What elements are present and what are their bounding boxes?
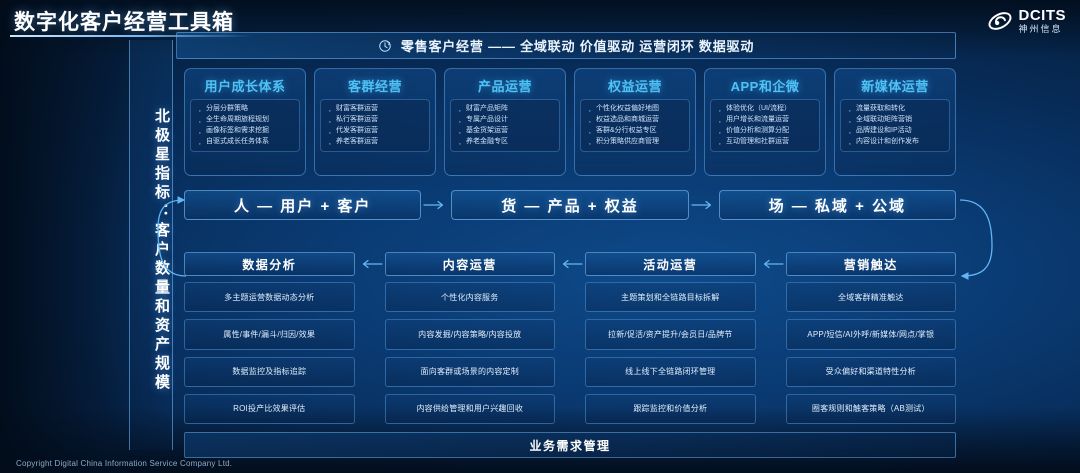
bottom-bar: 业务需求管理: [184, 432, 956, 458]
arrow-left-icon: [357, 258, 383, 270]
capability-card[interactable]: 客群经营财富客群运营私行客群运营代发客群运营养老客群运营: [314, 68, 436, 176]
card-list-item: 品牌建设和IP活动: [845, 126, 946, 137]
card-body: 体验优化（UI/流程）用户增长和流量运营价值分析和测算分配互动管理和社群运营: [710, 99, 820, 152]
section-cell[interactable]: 圈客规则和触客策略（AB测试）: [786, 394, 957, 424]
card-list-item: 全域联动矩阵营销: [845, 115, 946, 126]
headline-banner: 零售客户经营 —— 全域联动 价值驱动 运营闭环 数据驱动: [176, 32, 956, 59]
section-cell[interactable]: 数据监控及指标追踪: [184, 357, 355, 387]
section-cell[interactable]: 跟踪监控和价值分析: [585, 394, 756, 424]
card-list-item: 价值分析和测算分配: [715, 126, 816, 137]
bottom-bar-label: 业务需求管理: [529, 437, 610, 454]
flow-row: 人 — 用户 + 客户货 — 产品 + 权益场 — 私域 + 公域: [184, 190, 956, 220]
slide-canvas: 数字化客户经营工具箱 DCITS 神州信息 北极星指标：客户数量和资产规模 零售…: [0, 0, 1080, 473]
brand-logo: DCITS 神州信息: [987, 8, 1067, 34]
flow-box[interactable]: 货 — 产品 + 权益: [451, 190, 688, 220]
section-cell[interactable]: 个性化内容服务: [385, 282, 556, 312]
card-title: 权益运营: [580, 76, 690, 95]
section-arrow: [555, 258, 585, 270]
section-cell[interactable]: 属性/事件/漏斗/归因/效果: [184, 319, 355, 349]
card-list-item: 分层分群策略: [195, 104, 296, 115]
arrow-left-icon: [557, 258, 583, 270]
card-list-item: 私行客群运营: [325, 115, 426, 126]
north-star-label: 北极星指标：客户数量和资产规模: [133, 108, 169, 393]
section-cell[interactable]: 多主题运营数据动态分析: [184, 282, 355, 312]
flow-box[interactable]: 人 — 用户 + 客户: [184, 190, 421, 220]
section-cell[interactable]: ROI投产比效果评估: [184, 394, 355, 424]
title-underline: [10, 35, 252, 37]
card-list-item: 用户增长和流量运营: [715, 115, 816, 126]
card-title: 用户成长体系: [190, 76, 300, 95]
card-body: 财富客群运营私行客群运营代发客群运营养老客群运营: [320, 99, 430, 152]
section-column: 多主题运营数据动态分析属性/事件/漏斗/归因/效果数据监控及指标追踪ROI投产比…: [184, 282, 355, 424]
card-list-item: 积分策略供应商管理: [585, 137, 686, 148]
flow-box[interactable]: 场 — 私域 + 公域: [719, 190, 956, 220]
arrow-right-icon: [691, 199, 717, 211]
section-header[interactable]: 营销触达: [786, 252, 957, 276]
section-header[interactable]: 活动运营: [585, 252, 756, 276]
page-title: 数字化客户经营工具箱: [14, 6, 234, 36]
section-cell[interactable]: 内容发掘/内容策略/内容投放: [385, 319, 556, 349]
section-header-row: 数据分析内容运营活动运营营销触达: [184, 252, 956, 276]
card-list-item: 专属产品设计: [455, 115, 556, 126]
section-header[interactable]: 内容运营: [385, 252, 556, 276]
dcits-swirl-icon: [987, 8, 1013, 34]
card-list-item: 体验优化（UI/流程）: [715, 104, 816, 115]
card-body: 分层分群策略全生命周期旅程规划画像标签和需求挖掘自驱式成长任务体系: [190, 99, 300, 152]
card-body: 流量获取和转化全域联动矩阵营销品牌建设和IP活动内容设计和创作发布: [840, 99, 950, 152]
card-list-item: 互动管理和社群运营: [715, 137, 816, 148]
card-title: 新媒体运营: [840, 76, 950, 95]
capability-card[interactable]: 用户成长体系分层分群策略全生命周期旅程规划画像标签和需求挖掘自驱式成长任务体系: [184, 68, 306, 176]
capability-card-row: 用户成长体系分层分群策略全生命周期旅程规划画像标签和需求挖掘自驱式成长任务体系客…: [184, 68, 956, 176]
card-list-item: 自驱式成长任务体系: [195, 137, 296, 148]
capability-card[interactable]: 产品运营财富产品矩阵专属产品设计基金货架运营养老金融专区: [444, 68, 566, 176]
card-list-item: 个性化权益偏好地图: [585, 104, 686, 115]
card-list-item: 财富客群运营: [325, 104, 426, 115]
section-grid: 多主题运营数据动态分析属性/事件/漏斗/归因/效果数据监控及指标追踪ROI投产比…: [184, 282, 956, 424]
card-list-item: 养老金融专区: [455, 137, 556, 148]
card-body: 财富产品矩阵专属产品设计基金货架运营养老金融专区: [450, 99, 560, 152]
section-cell[interactable]: 主题策划和全链路目标拆解: [585, 282, 756, 312]
section-arrow: [355, 258, 385, 270]
logo-text-en: DCITS: [1019, 8, 1067, 23]
section-cell[interactable]: 全域客群精准触达: [786, 282, 957, 312]
card-list-item: 代发客群运营: [325, 126, 426, 137]
section-column: 主题策划和全链路目标拆解拉新/促活/资产提升/会员日/品牌节线上线下全链路闭环管…: [585, 282, 756, 424]
arrow-right-icon: [423, 199, 449, 211]
card-list-item: 画像标签和需求挖掘: [195, 126, 296, 137]
card-list-item: 流量获取和转化: [845, 104, 946, 115]
target-cycle-icon: [378, 39, 392, 53]
section-column: 全域客群精准触达APP/短信/AI外呼/新媒体/网点/掌银受众偏好和渠道特性分析…: [786, 282, 957, 424]
section-cell[interactable]: 内容供给管理和用户兴趣回收: [385, 394, 556, 424]
capability-card[interactable]: 权益运营个性化权益偏好地图权益选品和商城运营客群&分行权益专区积分策略供应商管理: [574, 68, 696, 176]
section-arrow: [756, 258, 786, 270]
section-cell[interactable]: 拉新/促活/资产提升/会员日/品牌节: [585, 319, 756, 349]
copyright-footer: Copyright Digital China Information Serv…: [16, 459, 232, 468]
section-header[interactable]: 数据分析: [184, 252, 355, 276]
card-title: APP和企微: [710, 76, 820, 95]
card-list-item: 基金货架运营: [455, 126, 556, 137]
card-list-item: 权益选品和商城运营: [585, 115, 686, 126]
section-cell[interactable]: 线上线下全链路闭环管理: [585, 357, 756, 387]
card-list-item: 养老客群运营: [325, 137, 426, 148]
card-list-item: 财富产品矩阵: [455, 104, 556, 115]
banner-text: 零售客户经营 —— 全域联动 价值驱动 运营闭环 数据驱动: [401, 36, 754, 55]
card-list-item: 内容设计和创作发布: [845, 137, 946, 148]
capability-card[interactable]: 新媒体运营流量获取和转化全域联动矩阵营销品牌建设和IP活动内容设计和创作发布: [834, 68, 956, 176]
main-panel: 零售客户经营 —— 全域联动 价值驱动 运营闭环 数据驱动 用户成长体系分层分群…: [176, 32, 968, 452]
card-title: 产品运营: [450, 76, 560, 95]
card-title: 客群经营: [320, 76, 430, 95]
card-list-item: 客群&分行权益专区: [585, 126, 686, 137]
section-cell[interactable]: APP/短信/AI外呼/新媒体/网点/掌银: [786, 319, 957, 349]
logo-text-cn: 神州信息: [1019, 25, 1067, 34]
card-body: 个性化权益偏好地图权益选品和商城运营客群&分行权益专区积分策略供应商管理: [580, 99, 690, 152]
section-cell[interactable]: 受众偏好和渠道特性分析: [786, 357, 957, 387]
section-column: 个性化内容服务内容发掘/内容策略/内容投放面向客群或场景的内容定制内容供给管理和…: [385, 282, 556, 424]
flow-arrow: [421, 199, 451, 211]
card-list-item: 全生命周期旅程规划: [195, 115, 296, 126]
flow-arrow: [689, 199, 719, 211]
arrow-left-icon: [758, 258, 784, 270]
section-cell[interactable]: 面向客群或场景的内容定制: [385, 357, 556, 387]
capability-card[interactable]: APP和企微体验优化（UI/流程）用户增长和流量运营价值分析和测算分配互动管理和…: [704, 68, 826, 176]
